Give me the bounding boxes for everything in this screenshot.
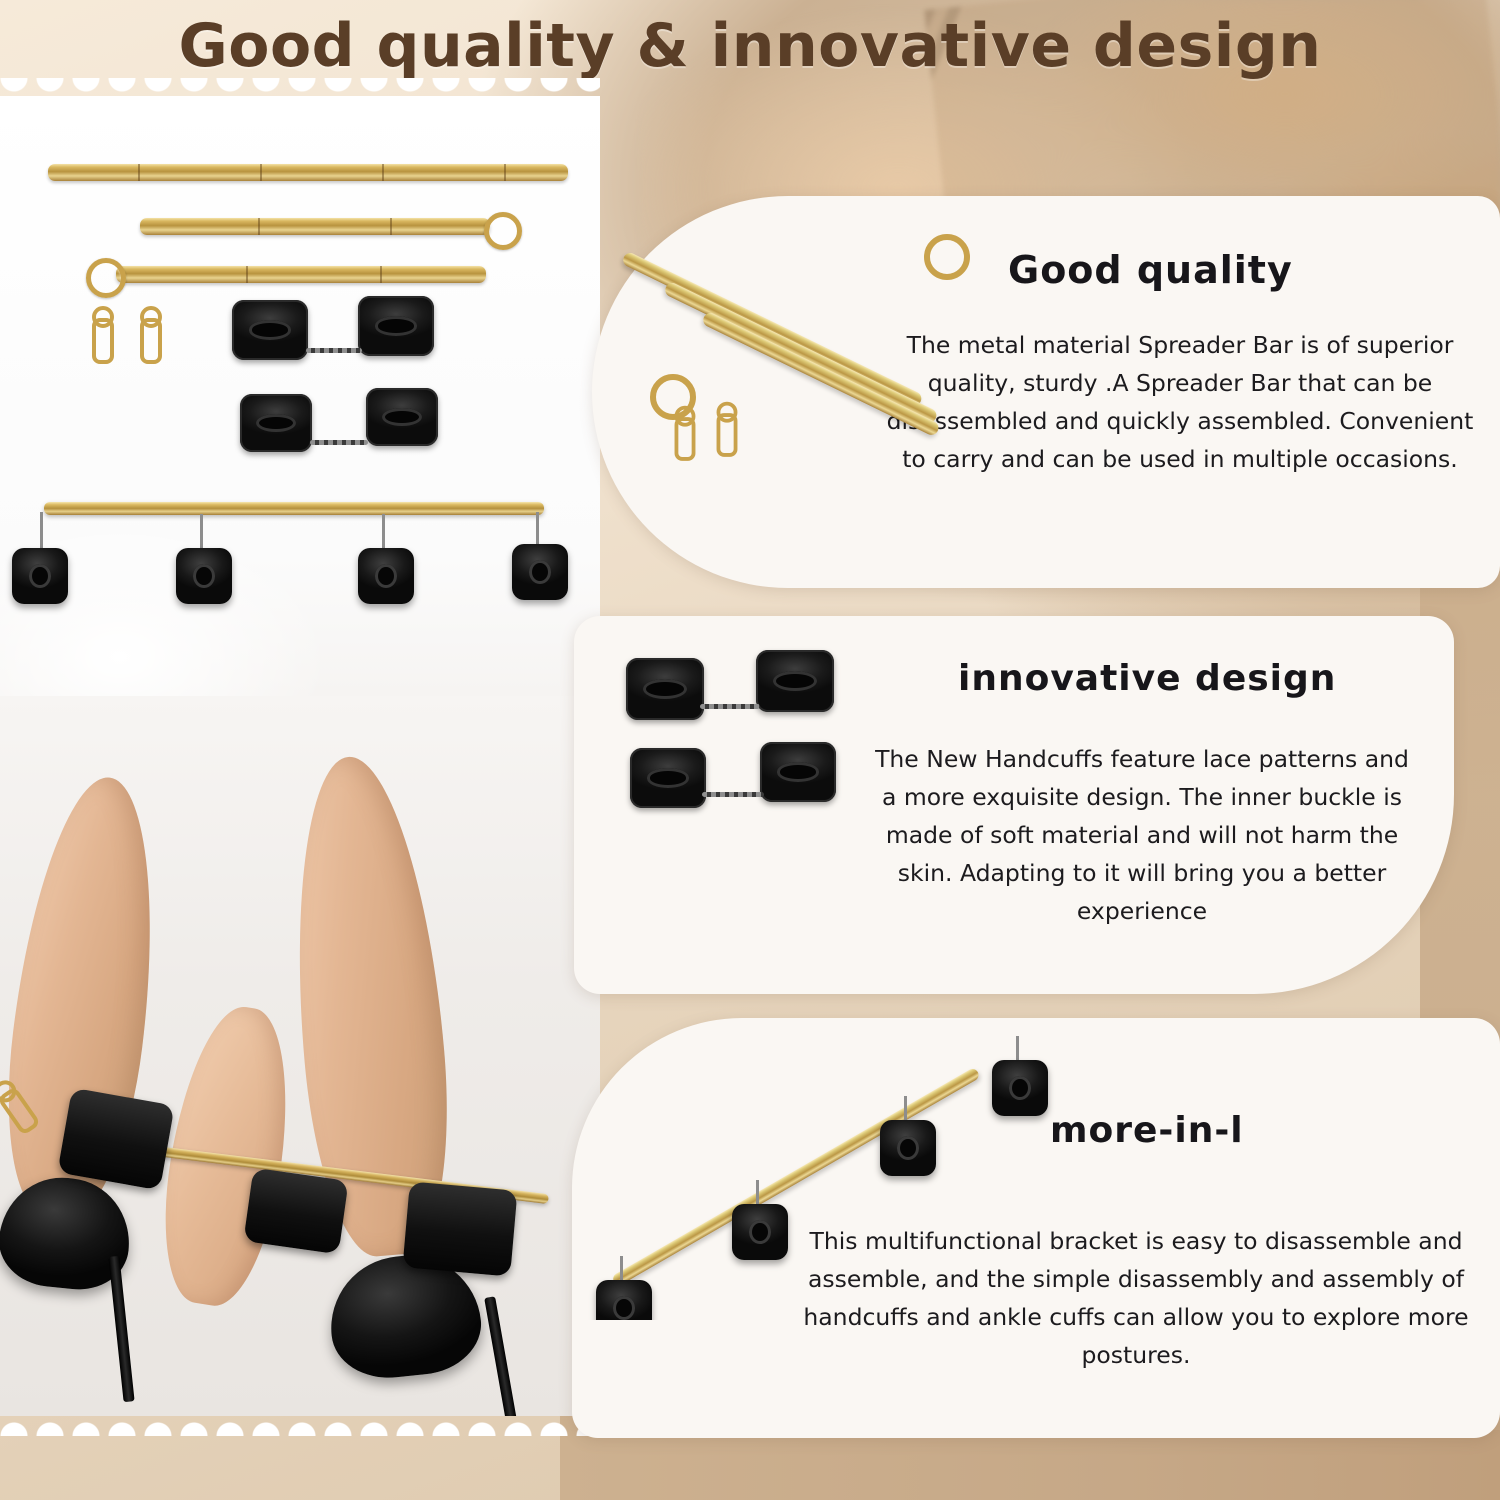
detail-assembled-bar bbox=[611, 1067, 981, 1287]
hang-strap-4 bbox=[536, 512, 539, 546]
panel-scallop-bottom-edge bbox=[0, 1410, 600, 1436]
hang-cuff-4 bbox=[512, 544, 568, 600]
detail-cuff-2 bbox=[756, 650, 834, 712]
gold-ring-left bbox=[86, 258, 126, 298]
detail-snap-1 bbox=[675, 417, 696, 461]
hang-strap-3 bbox=[382, 514, 385, 550]
left-photo-panel bbox=[0, 96, 600, 1416]
card-title-good-quality: Good quality bbox=[1008, 248, 1293, 292]
detail-chain-2 bbox=[702, 792, 764, 797]
gold-bar-long bbox=[48, 164, 568, 181]
detail-cuff-1 bbox=[626, 658, 704, 720]
cuff-chain-b bbox=[310, 440, 368, 445]
product-parts-photo bbox=[0, 96, 600, 756]
card-title-more-in-1: more-in-l bbox=[1050, 1110, 1244, 1151]
detail-hang-cuff-3 bbox=[880, 1120, 936, 1176]
legs-composition bbox=[0, 696, 600, 1416]
detail-chain-1 bbox=[700, 704, 760, 709]
gold-bars-detail-photo bbox=[600, 206, 1000, 576]
ankle-cuff-right bbox=[402, 1181, 517, 1276]
cuff-b1 bbox=[240, 394, 312, 452]
model-legs-photo bbox=[0, 696, 600, 1416]
cuff-b2 bbox=[366, 388, 438, 446]
wrist-cuff bbox=[243, 1168, 348, 1255]
hang-strap-1 bbox=[40, 512, 43, 552]
panel-scallop-top-edge bbox=[0, 78, 600, 104]
gold-bar-short bbox=[116, 266, 486, 283]
snap-hook-1 bbox=[92, 318, 114, 364]
heel-right bbox=[484, 1296, 523, 1416]
detail-cuff-3 bbox=[630, 748, 706, 808]
cuff-a1 bbox=[232, 300, 308, 360]
detail-hang-cuff-2 bbox=[732, 1204, 788, 1260]
detail-hang-cuff-4 bbox=[992, 1060, 1048, 1116]
assembled-bar-detail-photo bbox=[584, 1020, 1064, 1320]
cuff-chain-a bbox=[306, 348, 362, 353]
detail-top-ring bbox=[584, 1020, 610, 1046]
cuffs-detail-photo bbox=[600, 648, 860, 848]
hang-cuff-3 bbox=[358, 548, 414, 604]
hang-cuff-2 bbox=[176, 548, 232, 604]
snap-hook-2 bbox=[140, 318, 162, 364]
assembled-bar bbox=[44, 502, 544, 515]
card-body-innovative-design: The New Handcuffs feature lace patterns … bbox=[872, 740, 1412, 930]
gold-ring-right bbox=[484, 212, 522, 250]
card-title-innovative-design: innovative design bbox=[958, 658, 1336, 699]
page-title: Good quality & innovative design bbox=[178, 11, 1321, 81]
hang-cuff-1 bbox=[12, 548, 68, 604]
detail-hang-cuff-1 bbox=[596, 1280, 652, 1320]
cuff-a2 bbox=[358, 296, 434, 356]
detail-cuff-4 bbox=[760, 742, 836, 802]
poster-canvas: Good quality & innovative design bbox=[0, 0, 1500, 1500]
gold-bar-medium bbox=[140, 218, 490, 235]
heel-left bbox=[108, 1256, 134, 1402]
ankle-cuff-left bbox=[57, 1088, 174, 1191]
detail-snap-2 bbox=[717, 413, 738, 457]
detail-ring-1 bbox=[924, 234, 970, 280]
hang-strap-2 bbox=[200, 514, 203, 550]
